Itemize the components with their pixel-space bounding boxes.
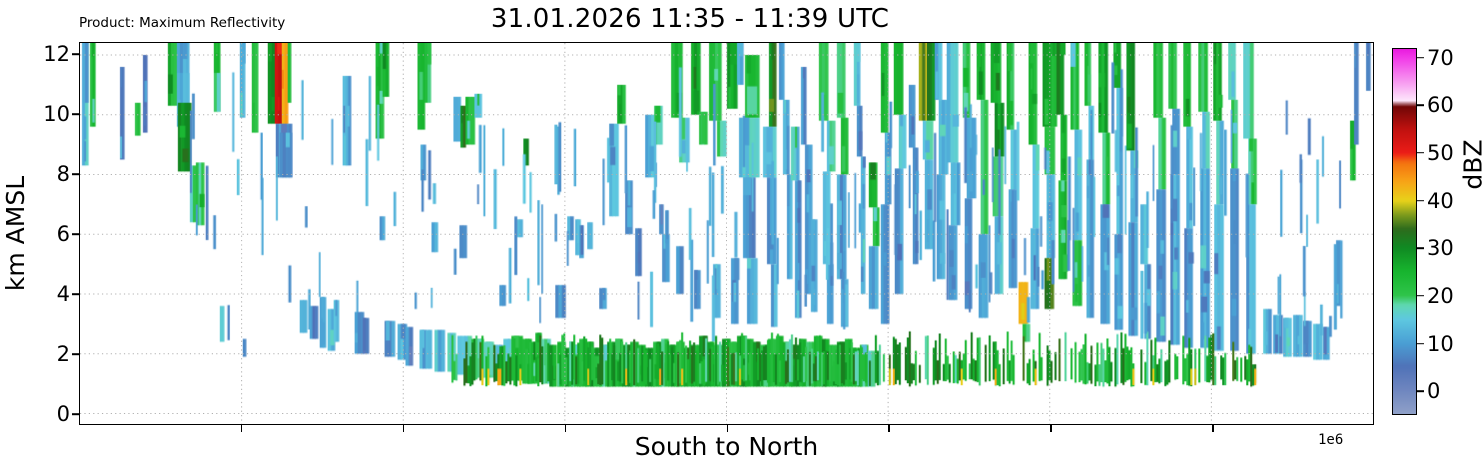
y-axis-tick-mark <box>72 294 79 296</box>
colorbar-tick-label: 30 <box>1427 236 1454 260</box>
x-axis-tick-mark <box>888 425 890 432</box>
plot-area <box>79 42 1374 425</box>
y-axis-tick-label: 6 <box>57 222 70 246</box>
x-axis-tick-mark <box>1212 425 1214 432</box>
x-axis-tick-mark <box>241 425 243 432</box>
x-axis-tick-mark <box>565 425 567 432</box>
reflectivity-heatmap <box>80 43 1373 424</box>
y-axis-tick-mark <box>72 173 79 175</box>
y-axis-tick-mark <box>72 414 79 416</box>
colorbar-tick-mark <box>1417 152 1424 154</box>
colorbar-wrapper <box>1392 48 1417 415</box>
x-axis-tick-mark <box>727 425 729 432</box>
colorbar-tick-mark <box>1417 343 1424 345</box>
y-axis-tick-mark <box>72 113 79 115</box>
colorbar-tick-mark <box>1417 200 1424 202</box>
y-axis-tick-mark <box>72 53 79 55</box>
colorbar-tick-mark <box>1417 104 1424 106</box>
y-axis-tick-label: 8 <box>57 162 70 186</box>
x-axis-tick-mark <box>403 425 405 432</box>
colorbar-tick-label: 40 <box>1427 189 1454 213</box>
y-axis-tick-mark <box>72 354 79 356</box>
colorbar <box>1392 48 1417 415</box>
y-axis-tick-label: 2 <box>57 342 70 366</box>
colorbar-tick-mark <box>1417 57 1424 59</box>
x-axis-label: South to North <box>79 432 1374 461</box>
colorbar-tick-label: 20 <box>1427 284 1454 308</box>
colorbar-tick-label: 0 <box>1427 379 1440 403</box>
y-axis-tick-label: 4 <box>57 282 70 306</box>
x-axis-tick-mark <box>1050 425 1052 432</box>
y-axis-label-text: km AMSL <box>2 176 31 291</box>
y-axis-tick-label: 12 <box>43 42 70 66</box>
colorbar-tick-label: 70 <box>1427 46 1454 70</box>
product-label: Product: Maximum Reflectivity <box>79 15 285 31</box>
colorbar-tick-label: 60 <box>1427 93 1454 117</box>
colorbar-axis-label: dBZ <box>1448 150 1482 179</box>
colorbar-tick-label: 10 <box>1427 332 1454 356</box>
y-axis-tick-mark <box>72 233 79 235</box>
colorbar-tick-mark <box>1417 247 1424 249</box>
radar-cross-section-figure: 31.01.2026 11:35 - 11:39 UTC Product: Ma… <box>0 0 1482 470</box>
y-axis-tick-label: 10 <box>43 102 70 126</box>
colorbar-tick-mark <box>1417 295 1424 297</box>
colorbar-tick-mark <box>1417 390 1424 392</box>
colorbar-axis-label-text: dBZ <box>1459 139 1482 189</box>
y-axis-tick-label: 0 <box>57 402 70 426</box>
y-axis-label: km AMSL <box>0 42 33 425</box>
x-axis-offset-text: 1e6 <box>1318 432 1343 448</box>
